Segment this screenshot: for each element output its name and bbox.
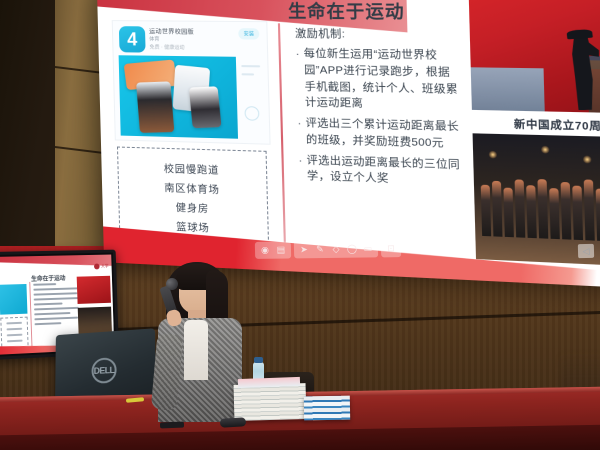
bullet-marker-icon: · [297, 116, 302, 149]
university-logo: 大学 [94, 263, 109, 269]
phone-mockup-4 [189, 86, 222, 128]
zoom-magnifier-icon[interactable]: ◯ [345, 243, 359, 256]
lecture-hall-scene: 三、体教激励 生命在于运动 4 运动世界校园版 体育 免费 · 健康运动 安装 [0, 0, 600, 450]
desk-microphone [220, 417, 246, 427]
next-slide-arrow-icon[interactable]: ◁ [578, 244, 594, 258]
more-options-icon[interactable]: ⊡ [384, 242, 398, 255]
eraser-icon[interactable]: ◇ [329, 243, 343, 256]
street-light [541, 146, 549, 154]
pen-icon[interactable]: ✎ [313, 243, 327, 256]
monitor-bullets [33, 282, 82, 328]
app-meta-label: 免费 · 健康运动 [149, 44, 184, 51]
presenter-view-icon[interactable]: ▭ [361, 242, 375, 255]
monitor-photo-flag [77, 276, 111, 304]
crowd-group [478, 170, 600, 243]
bullet-marker-icon: · [298, 152, 303, 185]
monitor-divider [29, 282, 32, 353]
white-shirt [184, 320, 208, 380]
app-category-label: 体育 [149, 35, 159, 42]
street-light [583, 156, 591, 164]
bullet-text: 评选出三个累计运动距离最长的班级，并奖励班费500元 [305, 116, 464, 153]
app-phone-mockups [119, 55, 238, 138]
bullet-list-heading: 激励机制: [295, 26, 461, 43]
bullet-text: 评选出运动距离最长的三位同学，设立个人奖 [306, 152, 465, 190]
monitor-left-column [0, 284, 29, 352]
monitor-band-text: 激励计划 [0, 255, 15, 258]
toolbar-group-more[interactable]: ⊡ [381, 240, 401, 257]
pointer-options-icon[interactable]: ◉ [258, 244, 272, 257]
desk-phone [160, 422, 184, 429]
arrow-pointer-icon[interactable]: ➤ [297, 243, 311, 256]
bullet-item: · 评选出运动距离最长的三位同学，设立个人奖 [298, 152, 465, 190]
books-stack [304, 396, 350, 421]
slide-vertical-divider [278, 23, 286, 254]
soldier-hat [566, 29, 593, 39]
toolbar-group-tools[interactable]: ➤ ✎ ◇ ◯ ▭ [294, 240, 378, 258]
monitor-app-thumb [0, 284, 27, 315]
bottle-cap [254, 357, 263, 363]
monitor-slide-title: 生命在于运动 [31, 273, 66, 283]
bullet-item: · 评选出三个累计运动距离最长的班级，并奖励班费500元 [297, 116, 464, 153]
facility-item: 校园慢跑道 [164, 160, 220, 177]
toolbar-group-left[interactable]: ◉ ▤ [255, 241, 291, 258]
app-screenshot-panel: 4 运动世界校园版 体育 免费 · 健康运动 安装 [112, 20, 271, 145]
bullet-item: · 每位新生运用“运动世界校园”APP进行记录跑步，根据手机截图，统计个人、班级… [295, 46, 463, 115]
slide-heading: 生命在于运动 [288, 0, 405, 23]
facility-item: 健身房 [176, 199, 210, 216]
university-seal-icon [94, 263, 100, 269]
photo-national-flag: ★ ★ [468, 0, 600, 114]
facility-item: 南区体育场 [164, 179, 220, 196]
app-install-button: 安装 [238, 28, 259, 39]
sky-patch [471, 67, 545, 111]
university-logo-text: 大学 [101, 263, 109, 269]
bullet-marker-icon: · [295, 46, 301, 111]
dell-logo-icon: DELL [92, 357, 117, 384]
incentive-bullet-list: 激励机制: · 每位新生运用“运动世界校园”APP进行记录跑步，根据手机截图，统… [295, 26, 465, 195]
bullet-text: 每位新生运用“运动世界校园”APP进行记录跑步，根据手机截图，统计个人、班级累计… [304, 46, 463, 115]
app-ui-ghost-detail [238, 61, 267, 144]
powerpoint-presenter-toolbar[interactable]: ◉ ▤ ➤ ✎ ◇ ◯ ▭ ⊡ [255, 240, 401, 259]
papers-stack [234, 383, 307, 421]
phone-mockup-2 [136, 81, 174, 133]
street-light [489, 151, 497, 159]
app-logo-icon: 4 [119, 26, 146, 52]
flag-star-icon: ★ [574, 0, 592, 3]
all-slides-grid-icon[interactable]: ▤ [274, 243, 288, 256]
app-name-label: 运动世界校园版 [149, 26, 194, 36]
